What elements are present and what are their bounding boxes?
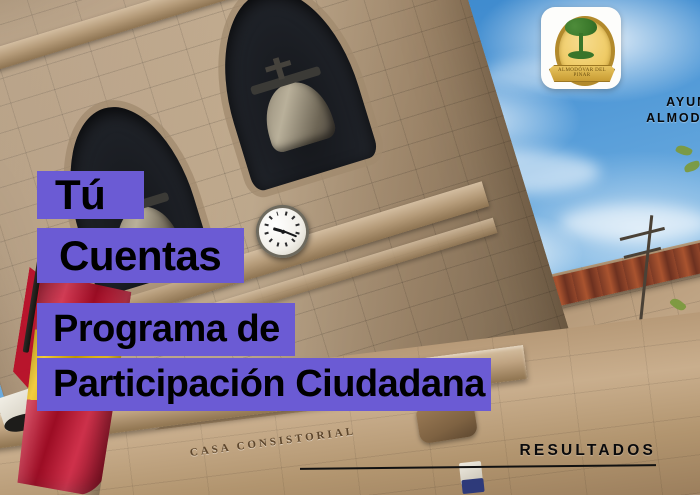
organization-line-2: ALMODÓVAR DEL PINAR bbox=[0, 111, 700, 125]
logo-ribbon-text: ALMODÓVAR DEL PINAR bbox=[550, 68, 614, 78]
headline-line-4: Participación Ciudadana bbox=[37, 358, 491, 411]
headline-line-1: Tú bbox=[37, 171, 144, 219]
wall-plaque-accent bbox=[461, 478, 484, 494]
clock-hub bbox=[280, 229, 285, 234]
headline-line-3: Programa de bbox=[37, 303, 295, 356]
headline-line-2: Cuentas bbox=[37, 228, 244, 283]
pine-tree-root-icon bbox=[568, 51, 594, 59]
ayuntamiento-logo: ALMODÓVAR DEL PINAR bbox=[541, 7, 621, 89]
poster-canvas: CASA CONSISTORIAL ALMODÓVAR DEL PINAR AY… bbox=[0, 0, 700, 495]
organization-line-1: AYUNTAMIENTO DE bbox=[0, 95, 700, 109]
logo-ribbon: ALMODÓVAR DEL PINAR bbox=[549, 65, 615, 82]
results-label: RESULTADOS bbox=[520, 442, 656, 460]
